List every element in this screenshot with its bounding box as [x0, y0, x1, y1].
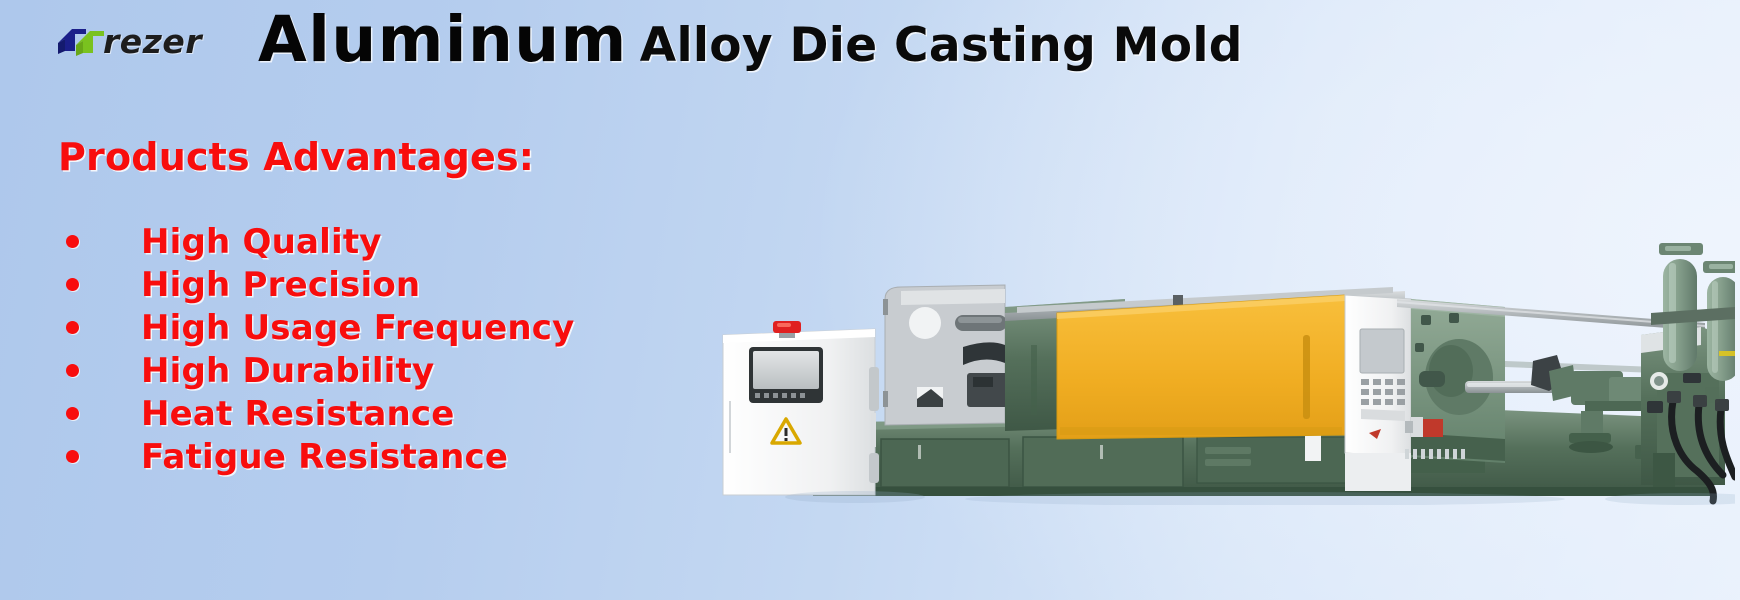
list-item: Fatigue Resistance: [58, 435, 758, 478]
advantage-label: Fatigue Resistance: [141, 440, 508, 474]
list-item: High Usage Frequency: [58, 306, 758, 349]
list-item: High Precision: [58, 263, 758, 306]
hmi-screen: [749, 347, 823, 403]
die-casting-machine-image: [705, 195, 1735, 505]
bullet-dot-icon: [66, 278, 79, 291]
accumulator-tank-left: [1659, 243, 1703, 371]
bullet-dot-icon: [66, 407, 79, 420]
list-item: High Quality: [58, 220, 758, 263]
advantages-heading: Products Advantages:: [58, 138, 758, 176]
bullet-dot-icon: [66, 321, 79, 334]
brand-wordmark: rezer: [103, 25, 202, 58]
headline-secondary: Alloy Die Casting Mold: [640, 18, 1243, 73]
accumulator-tank-right: [1703, 261, 1735, 381]
bullet-dot-icon: [66, 235, 79, 248]
rezer-angular-logo-icon: [52, 21, 108, 61]
brand-logo: rezer: [52, 18, 202, 64]
advantage-label: High Usage Frequency: [141, 311, 575, 345]
advantage-label: High Quality: [141, 225, 382, 259]
bullet-dot-icon: [66, 450, 79, 463]
operator-panel: [1345, 295, 1411, 491]
bullet-dot-icon: [66, 364, 79, 377]
product-banner: rezer AluminumAlloy Die Casting Mold Pro…: [0, 0, 1740, 600]
advantage-label: High Precision: [141, 268, 420, 302]
advantages-section: Products Advantages: High Quality High P…: [58, 138, 758, 478]
headline-primary: Aluminum: [258, 3, 628, 76]
safety-door: [1057, 295, 1345, 439]
page-title: AluminumAlloy Die Casting Mold: [258, 8, 1243, 71]
advantage-label: High Durability: [141, 354, 434, 388]
list-item: Heat Resistance: [58, 392, 758, 435]
control-cabinet: [723, 321, 879, 495]
advantage-label: Heat Resistance: [141, 397, 455, 431]
list-item: High Durability: [58, 349, 758, 392]
advantages-list: High Quality High Precision High Usage F…: [58, 220, 758, 478]
